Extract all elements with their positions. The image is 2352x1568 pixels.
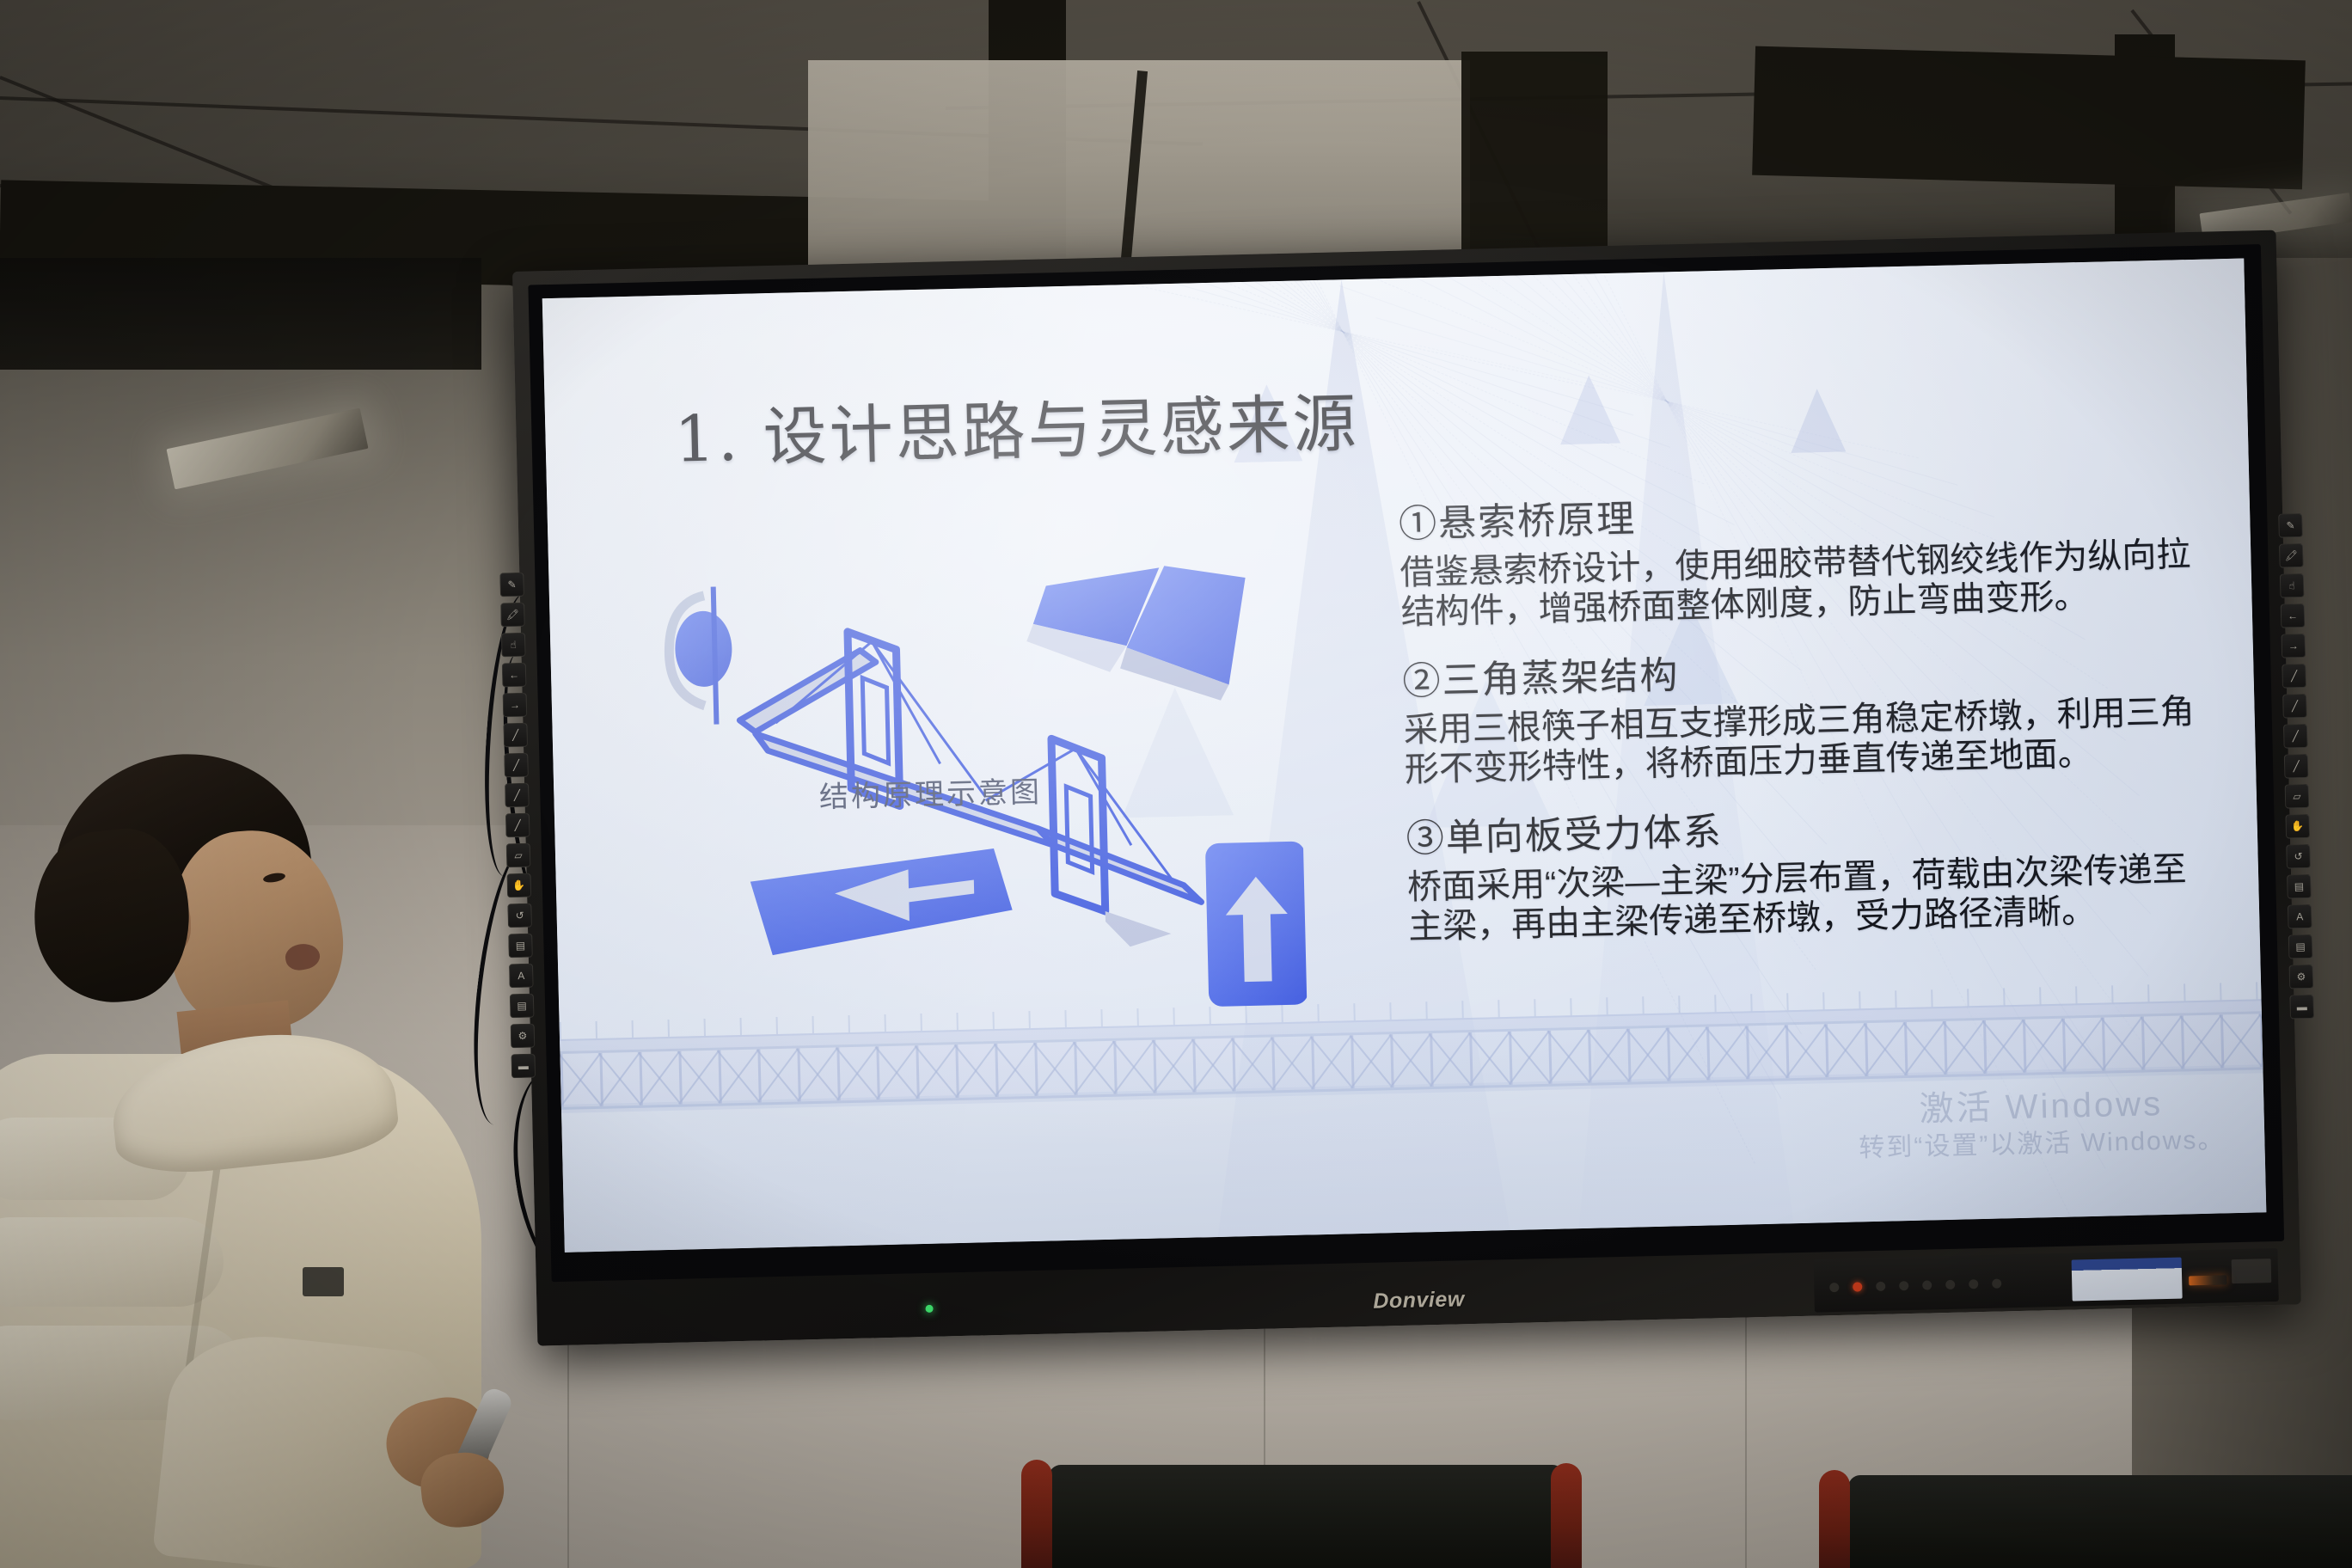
chair (1014, 1456, 1599, 1568)
interactive-whiteboard[interactable]: 1. 设计思路与灵感来源 (512, 230, 2301, 1346)
truss-brace (599, 1052, 640, 1106)
air-duct (0, 258, 481, 370)
truss-brace (797, 1047, 837, 1101)
railing-post (1570, 998, 1571, 1015)
wall-seam (567, 1307, 569, 1568)
text-tool-icon[interactable]: A (2288, 904, 2312, 929)
control-button[interactable] (1969, 1279, 1978, 1289)
truss-brace (876, 1045, 916, 1099)
truss-brace (1271, 1036, 1312, 1090)
railing-post (2256, 982, 2257, 999)
truss-brace (1706, 1026, 1747, 1080)
ceiling-beam (1752, 46, 2306, 190)
medium-line-icon[interactable]: ╱ (2283, 724, 2308, 749)
truss-brace (1074, 1041, 1114, 1095)
pointer-icon[interactable]: ☝ (2280, 573, 2305, 598)
railing-post (1931, 989, 1932, 1007)
railing-post (596, 1021, 597, 1038)
illustration-caption: 结构原理示意图 (750, 767, 1112, 818)
railing-post (2039, 987, 2041, 1004)
certification-sticker (2072, 1258, 2183, 1302)
truss-brace (1034, 1042, 1075, 1096)
chair (1814, 1465, 2352, 1568)
thick-line-icon[interactable]: ╱ (2284, 754, 2309, 779)
truss-brace (2023, 1019, 2063, 1073)
control-button[interactable] (1899, 1281, 1908, 1290)
chair-backrest (1848, 1475, 2352, 1568)
chair-frame (1819, 1470, 1850, 1568)
highlighter-icon[interactable]: 🖍 (2279, 543, 2304, 568)
railing-post (1967, 989, 1969, 1006)
display-brand-logo: Donview (1373, 1287, 1465, 1314)
control-button[interactable] (1992, 1279, 2001, 1289)
railing-post (1786, 993, 1788, 1010)
truss-brace (836, 1046, 877, 1100)
photo-scene: 1. 设计思路与灵感来源 (0, 0, 2352, 1568)
truss-brace (1113, 1040, 1154, 1094)
display-control-panel[interactable] (1813, 1248, 2278, 1313)
railing-post (2220, 983, 2221, 1000)
pen-tool-icon[interactable]: ✎ (499, 573, 524, 597)
arrow-left-icon[interactable]: ← (502, 663, 527, 688)
truss-brace (1351, 1034, 1391, 1088)
arrow-up-sign-icon (1205, 841, 1308, 1007)
railing-post (560, 1022, 561, 1039)
control-button[interactable] (1876, 1282, 1885, 1291)
power-button[interactable] (1853, 1282, 1862, 1291)
section-body-3: 桥面采用“次梁—主梁”分层布置，荷载由次梁传递至主梁，再由主梁传递至桥墩，受力路… (1407, 848, 2217, 947)
truss-brace (1509, 1031, 1549, 1085)
control-button-row[interactable] (1829, 1279, 2001, 1293)
truss-brace (1469, 1032, 1510, 1086)
home-icon[interactable]: ▬ (2289, 995, 2314, 1020)
truss-brace (1311, 1035, 1351, 1089)
railing-post (1317, 1004, 1319, 1021)
control-button[interactable] (1945, 1280, 1955, 1289)
pen-tool-icon[interactable]: ✎ (2278, 513, 2303, 538)
railing-post (1859, 991, 1860, 1008)
slide-body-column: ①悬索桥原理 借鉴悬索桥设计，使用细胶带替代钢绞线作为纵向拉结构件，增强桥面整体… (1398, 475, 2217, 965)
chair-frame (1021, 1460, 1052, 1568)
truss-brace (1904, 1021, 1945, 1075)
truss-brace (1825, 1023, 1865, 1077)
truss-brace (1192, 1038, 1233, 1093)
display-screen[interactable]: 1. 设计思路与灵感来源 (542, 259, 2267, 1253)
truss-brace (1588, 1029, 1628, 1083)
railing-post (1534, 999, 1535, 1016)
truss-brace (1548, 1030, 1589, 1084)
truss-brace (2141, 1016, 2182, 1070)
railing-post (2003, 988, 2005, 1005)
line-tool-icon[interactable]: ╱ (2282, 664, 2306, 689)
slide-title: 1. 设计思路与灵感来源 (673, 372, 1359, 481)
truss-brace (718, 1050, 758, 1104)
truss-brace (2181, 1014, 2221, 1069)
jacket-logo-patch (303, 1267, 344, 1296)
truss-brace (1746, 1025, 1786, 1079)
truss-brace (678, 1050, 719, 1105)
section-body-1: 借鉴悬索桥设计，使用细胶带替代钢绞线作为纵向拉结构件，增强桥面整体刚度，防止弯曲… (1400, 535, 2209, 634)
railing-post (2147, 984, 2149, 1001)
railing-post (1353, 1003, 1355, 1020)
arrow-right-icon[interactable]: → (2282, 634, 2306, 658)
truss-brace (955, 1044, 995, 1098)
truss-brace (1153, 1039, 1193, 1093)
arrow-left-icon[interactable]: ← (2281, 603, 2306, 628)
truss-brace (2220, 1014, 2261, 1068)
truss-brace (1944, 1020, 1984, 1075)
model-label (2232, 1259, 2272, 1283)
hand-icon[interactable]: ✋ (2285, 814, 2310, 839)
arrow-right-icon[interactable]: → (503, 693, 528, 718)
keyboard-icon[interactable]: ▤ (2288, 934, 2313, 959)
presentation-slide: 1. 设计思路与灵感来源 (542, 259, 2267, 1253)
truss-brace (2062, 1018, 2103, 1072)
badge-icon (668, 586, 734, 726)
truss-brace (1785, 1024, 1826, 1078)
chair-frame (1551, 1463, 1582, 1568)
truss-brace (1983, 1020, 2024, 1074)
control-button[interactable] (1829, 1283, 1839, 1292)
highlighter-icon[interactable]: 🖍 (500, 603, 525, 628)
sign-panels-icon (1025, 564, 1248, 705)
settings-icon[interactable]: ⚙ (2289, 965, 2314, 989)
truss-brace (916, 1044, 956, 1099)
railing-post (1606, 997, 1608, 1014)
railing-post (1895, 990, 1896, 1008)
undo-icon[interactable]: ↺ (2286, 844, 2311, 869)
truss-brace (560, 1053, 600, 1107)
truss-brace (639, 1051, 679, 1106)
railing-post (1461, 1001, 1463, 1018)
truss-brace (1232, 1037, 1272, 1091)
truss-brace (1390, 1033, 1430, 1087)
truss-brace (1627, 1028, 1668, 1082)
eraser-icon[interactable]: ▱ (2285, 784, 2310, 809)
railing-post (1678, 995, 1680, 1013)
railing-post (1750, 994, 1752, 1011)
jacket-puff (0, 1217, 224, 1307)
truss-brace (1667, 1027, 1707, 1081)
railing-post (1498, 1000, 1499, 1017)
arrow-left-sign-icon (750, 848, 1014, 956)
thin-line-icon[interactable]: ╱ (2282, 694, 2307, 719)
railing-post (1714, 995, 1716, 1012)
railing-post (1425, 1001, 1427, 1019)
truss-brace (1865, 1022, 1905, 1076)
railing-post (1822, 992, 1824, 1009)
save-icon[interactable]: ▤ (2287, 874, 2312, 899)
railing-post (2184, 983, 2185, 1001)
pointer-icon[interactable]: ☝ (501, 633, 526, 658)
presenter (0, 748, 533, 1568)
railing-post (1642, 996, 1644, 1014)
railing-post (2111, 985, 2113, 1002)
truss-brace (2102, 1017, 2142, 1071)
chair-backrest (1049, 1465, 1565, 1568)
truss-brace (995, 1043, 1035, 1097)
railing-post (2075, 986, 2077, 1003)
ir-receiver (2189, 1275, 2226, 1285)
truss-brace (757, 1048, 798, 1102)
section-body-2: 采用三根筷子相互支撑形成三角稳定桥墩，利用三角形不变形特性，将桥面压力垂直传递至… (1403, 691, 2213, 790)
control-button[interactable] (1922, 1280, 1932, 1289)
railing-post (1389, 1002, 1391, 1020)
railing-post (632, 1020, 634, 1038)
line-tool-icon[interactable]: ╱ (503, 723, 528, 748)
truss-brace (1430, 1032, 1470, 1087)
